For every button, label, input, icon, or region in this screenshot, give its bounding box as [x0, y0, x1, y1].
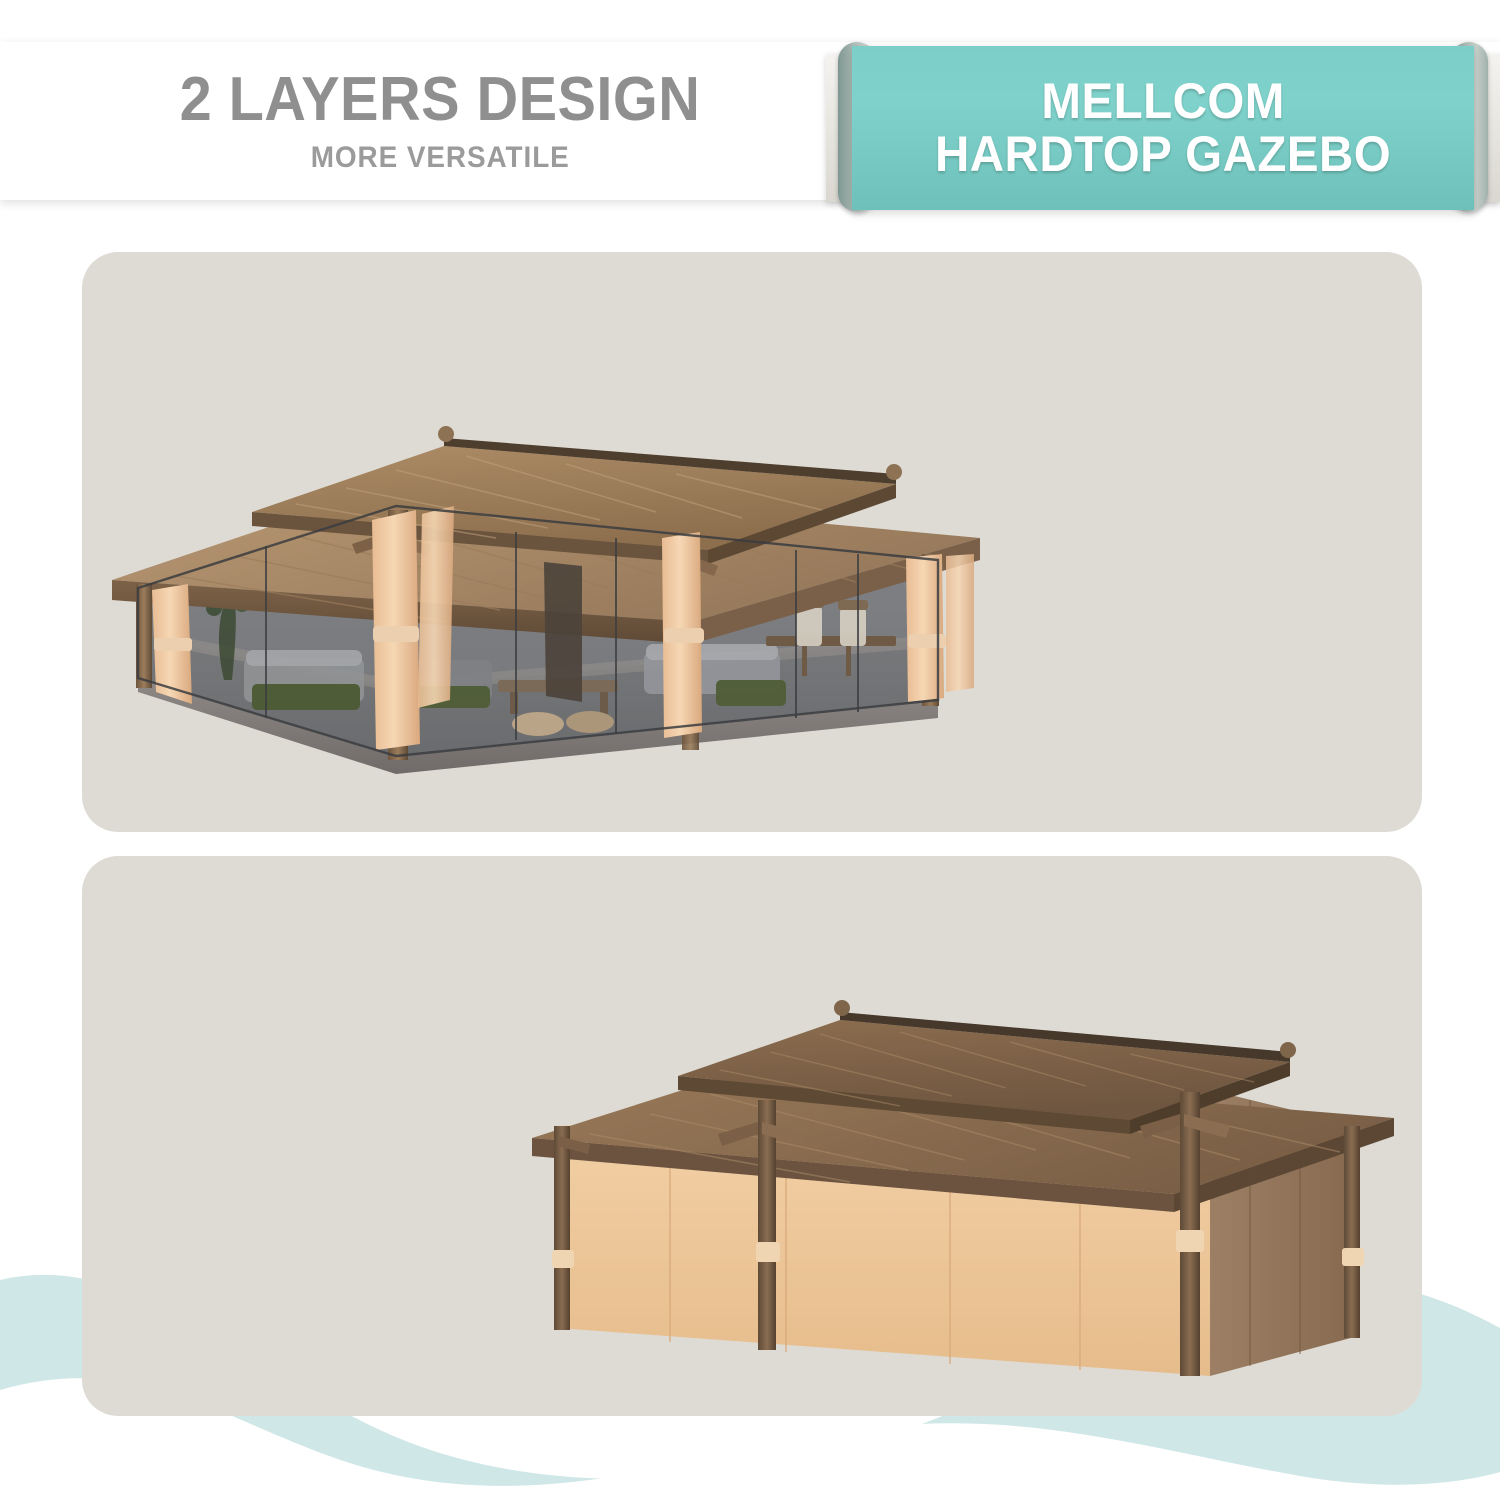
page-subtitle: MORE VERSATILE — [311, 143, 570, 173]
infographic-stage: 2 LAYERS DESIGN MORE VERSATILE MELLCOM H… — [0, 0, 1500, 1500]
brand-name: MELLCOM — [1041, 75, 1284, 128]
gazebo-with-privacy-curtain-render — [520, 930, 1410, 1400]
ribbon-body: MELLCOM HARDTOP GAZEBO — [852, 46, 1474, 210]
product-name: HARDTOP GAZEBO — [935, 128, 1391, 181]
page-title: 2 LAYERS DESIGN — [180, 69, 701, 131]
header-title-group: 2 LAYERS DESIGN MORE VERSATILE — [0, 42, 880, 200]
gazebo-with-bug-mesh-photo — [96, 288, 996, 808]
brand-ribbon: MELLCOM HARDTOP GAZEBO — [826, 28, 1500, 216]
